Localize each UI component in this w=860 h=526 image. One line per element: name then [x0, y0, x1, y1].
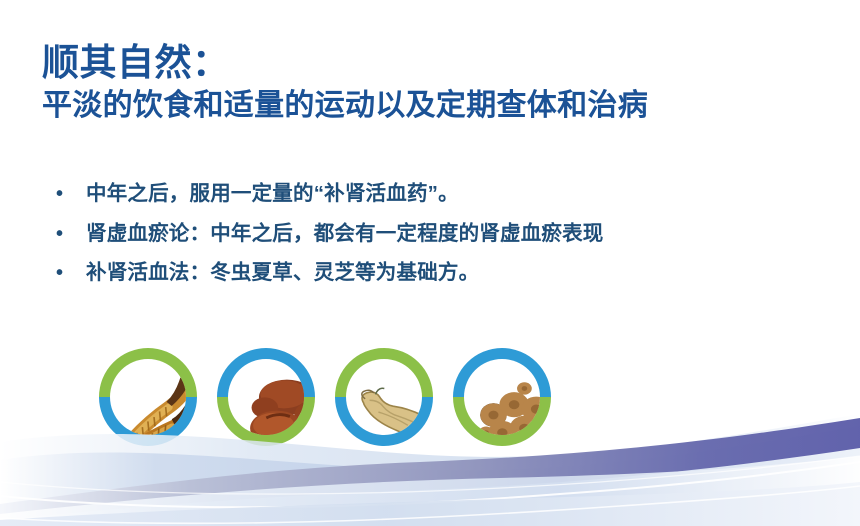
bullet-dot-icon: • [56, 260, 86, 286]
ginseng-image [346, 359, 422, 435]
cordyceps-image [110, 359, 186, 435]
list-item: • 补肾活血法：冬虫夏草、灵芝等为基础方。 [56, 260, 846, 287]
herb-circle-mushroom-cluster [446, 341, 558, 453]
list-item-label: 中年之后，服用一定量的“补肾活血药”。 [86, 181, 846, 208]
herb-circle-cordyceps [92, 341, 204, 453]
slide-canvas: 顺其自然： 平淡的饮食和适量的运动以及定期查体和治病 • 中年之后，服用一定量的… [0, 0, 860, 526]
list-item: • 中年之后，服用一定量的“补肾活血药”。 [56, 181, 846, 208]
herb-circle-lingzhi [210, 341, 322, 453]
bullet-list: • 中年之后，服用一定量的“补肾活血药”。 • 肾虚血瘀论：中年之后，都会有一定… [56, 181, 846, 300]
herb-circle-ginseng [328, 341, 440, 453]
list-item-label: 肾虚血瘀论：中年之后，都会有一定程度的肾虚血瘀表现 [86, 221, 846, 248]
list-item: • 肾虚血瘀论：中年之后，都会有一定程度的肾虚血瘀表现 [56, 221, 846, 248]
slide-title-block: 顺其自然： 平淡的饮食和适量的运动以及定期查体和治病 [42, 42, 802, 125]
mushroom-cluster-image [464, 359, 540, 435]
bullet-dot-icon: • [56, 221, 86, 247]
herb-circle-row [92, 341, 562, 456]
list-item-label: 补肾活血法：冬虫夏草、灵芝等为基础方。 [86, 260, 846, 287]
lingzhi-image [228, 359, 304, 435]
page-subtitle: 平淡的饮食和适量的运动以及定期查体和治病 [42, 88, 802, 125]
page-title: 顺其自然： [42, 42, 802, 84]
bullet-dot-icon: • [56, 181, 86, 207]
